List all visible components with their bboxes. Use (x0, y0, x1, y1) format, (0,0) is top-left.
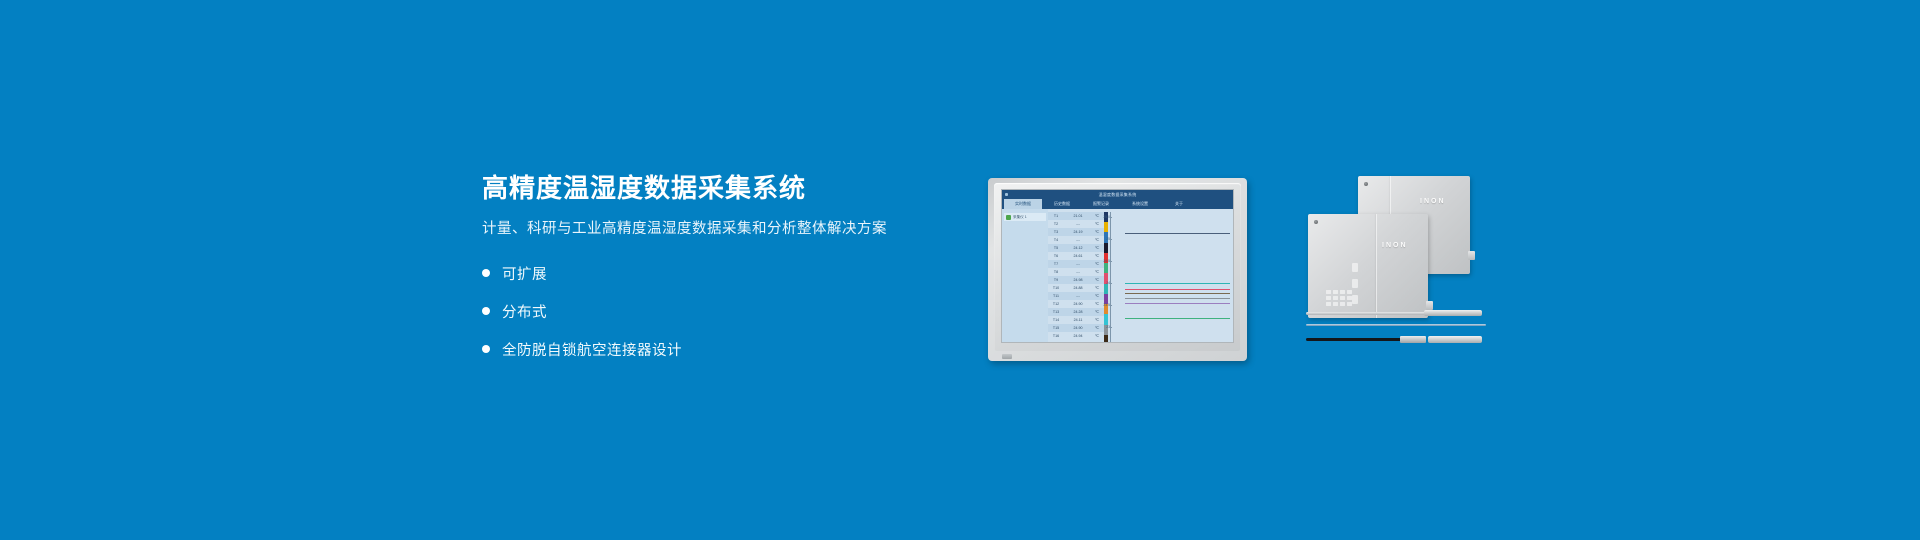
cell-ch: T3 (1048, 230, 1064, 234)
list-item: 可扩展 (482, 258, 1002, 289)
banner-copy: 高精度温湿度数据采集系统 计量、科研与工业高精度温湿度数据采集和分析整体解决方案… (482, 174, 1002, 372)
tab-alarms[interactable]: 报警记录 (1082, 199, 1120, 209)
cell-val: 24.19 (1064, 230, 1092, 234)
cell-val: 24.90 (1064, 302, 1092, 306)
monitor-stand (1002, 354, 1012, 359)
table-row[interactable]: T8---℃ (1048, 268, 1104, 276)
y-axis-tick: 25.0 (1097, 215, 1110, 219)
cell-ch: T8 (1048, 270, 1064, 274)
chart-series-line (1125, 283, 1230, 284)
bullet-icon (482, 269, 490, 277)
table-row[interactable]: T1524.90℃ (1048, 324, 1104, 332)
cell-unit: ℃ (1092, 318, 1102, 322)
channel-color-legend (1104, 212, 1108, 343)
cell-val: --- (1064, 238, 1092, 242)
cell-ch: T13 (1048, 310, 1064, 314)
cell-ch: T9 (1048, 278, 1064, 282)
cell-unit: ℃ (1092, 270, 1102, 274)
list-item: 全防脱自锁航空连接器设计 (482, 334, 1002, 365)
chart-series-line (1125, 298, 1230, 299)
table-row[interactable]: T11---℃ (1048, 292, 1104, 300)
cell-unit: ℃ (1092, 230, 1102, 234)
cell-ch: T16 (1048, 334, 1064, 338)
page-subtitle: 计量、科研与工业高精度温湿度数据采集和分析整体解决方案 (482, 217, 1002, 238)
table-row[interactable]: T1324.28℃ (1048, 308, 1104, 316)
module-latch (1468, 251, 1475, 260)
cell-val: 24.90 (1064, 326, 1092, 330)
probe-cable (1306, 338, 1404, 341)
screw-icon (1314, 220, 1318, 224)
cell-val: --- (1064, 262, 1092, 266)
cell-unit: ℃ (1092, 254, 1102, 258)
app-title: 温湿度数据采集系统 (1002, 192, 1233, 198)
monitor-bezel: 温湿度数据采集系统 实时数据 历史数据 报警记录 系统设置 关于 采集仪 1 (994, 183, 1241, 351)
y-axis-tick: 23.5 (1097, 303, 1110, 307)
brand-label: INON (1420, 198, 1446, 205)
screw-icon (1364, 182, 1368, 186)
module-port (1352, 279, 1358, 288)
table-row[interactable]: T1624.94℃ (1048, 332, 1104, 340)
cell-ch: T6 (1048, 254, 1064, 258)
list-item: 分布式 (482, 296, 1002, 327)
table-row[interactable]: T324.19℃ (1048, 228, 1104, 236)
module-seam (1376, 214, 1377, 318)
chart-series-line (1125, 233, 1230, 234)
cell-unit: ℃ (1092, 310, 1102, 314)
probe-cable-connector (1306, 336, 1486, 343)
product-banner: 高精度温湿度数据采集系统 计量、科研与工业高精度温湿度数据采集和分析整体解决方案… (0, 0, 1920, 540)
module-latch (1426, 301, 1433, 310)
app-titlebar: 温湿度数据采集系统 (1002, 190, 1233, 199)
cell-ch: T1 (1048, 214, 1064, 218)
chart-series-line (1125, 303, 1230, 304)
device-online-icon (1006, 215, 1011, 220)
chart-series-line (1125, 318, 1230, 319)
cell-ch: T10 (1048, 286, 1064, 290)
chart-series-line (1125, 289, 1230, 290)
cell-val: 24.28 (1064, 310, 1092, 314)
cell-val: 24.88 (1064, 286, 1092, 290)
bullet-icon (482, 307, 490, 315)
probe-tip (1428, 336, 1482, 343)
y-axis-tick: 24.5 (1097, 259, 1110, 263)
table-row[interactable]: T1024.88℃ (1048, 284, 1104, 292)
cell-unit: ℃ (1092, 222, 1102, 226)
table-row[interactable]: T1424.11℃ (1048, 316, 1104, 324)
feature-label: 可扩展 (502, 263, 547, 284)
cell-ch: T5 (1048, 246, 1064, 250)
module-port (1352, 263, 1358, 272)
bullet-icon (482, 345, 490, 353)
legend-color-swatch (1104, 284, 1108, 294)
sidebar-item-label: 采集仪 1 (1013, 215, 1027, 220)
cell-val: 21.01 (1064, 214, 1092, 218)
y-axis-tick: 23 (1097, 325, 1110, 329)
trend-chart[interactable]: 25.02524.52423.52309:0009:3010:0010:3011… (1110, 212, 1230, 343)
app-body: 采集仪 1 T121.01℃T2---℃T324.19℃T4---℃T524.1… (1002, 209, 1233, 343)
probe-tip (1424, 310, 1482, 316)
device-sidebar: 采集仪 1 (1002, 209, 1048, 343)
tab-settings[interactable]: 系统设置 (1121, 199, 1159, 209)
temperature-humidity-probes (1306, 310, 1486, 366)
probe-shaft (1306, 312, 1428, 315)
feature-label: 分布式 (502, 301, 547, 322)
table-row[interactable]: T624.61℃ (1048, 252, 1104, 260)
table-row[interactable]: T1224.90℃ (1048, 300, 1104, 308)
table-row[interactable]: T121.01℃ (1048, 212, 1104, 220)
legend-color-swatch (1104, 222, 1108, 232)
cell-ch: T14 (1048, 318, 1064, 322)
sidebar-item-device-1[interactable]: 采集仪 1 (1004, 213, 1046, 221)
page-title: 高精度温湿度数据采集系统 (482, 174, 1002, 203)
tab-realtime[interactable]: 实时数据 (1004, 199, 1042, 209)
cell-val: --- (1064, 270, 1092, 274)
cell-ch: T15 (1048, 326, 1064, 330)
feature-label: 全防脱自锁航空连接器设计 (502, 339, 682, 360)
brand-label: INON (1382, 242, 1408, 249)
cell-ch: T4 (1048, 238, 1064, 242)
cell-val: 24.11 (1064, 318, 1092, 322)
channel-table[interactable]: T121.01℃T2---℃T324.19℃T4---℃T524.12℃T624… (1048, 209, 1104, 343)
aviation-connector (1400, 336, 1426, 343)
cell-unit: ℃ (1092, 246, 1102, 250)
cell-val: 24.61 (1064, 254, 1092, 258)
cell-val: 24.94 (1064, 334, 1092, 338)
cell-unit: ℃ (1092, 294, 1102, 298)
cell-ch: T7 (1048, 262, 1064, 266)
module-port (1352, 295, 1358, 304)
cell-ch: T2 (1048, 222, 1064, 226)
tab-about[interactable]: 关于 (1160, 199, 1198, 209)
cell-val: --- (1064, 294, 1092, 298)
table-row[interactable]: T2---℃ (1048, 220, 1104, 228)
legend-color-swatch (1104, 263, 1108, 273)
table-row[interactable]: T524.12℃ (1048, 244, 1104, 252)
table-row[interactable]: T7---℃ (1048, 260, 1104, 268)
monitor-screen: 温湿度数据采集系统 实时数据 历史数据 报警记录 系统设置 关于 采集仪 1 (1001, 189, 1234, 343)
cell-ch: T12 (1048, 302, 1064, 306)
legend-color-swatch (1104, 335, 1108, 343)
cell-val: 24.12 (1064, 246, 1092, 250)
tab-history[interactable]: 历史数据 (1043, 199, 1081, 209)
legend-color-swatch (1104, 314, 1108, 324)
probe-shaft (1306, 324, 1486, 326)
module-front: INON (1308, 214, 1428, 318)
legend-color-swatch (1104, 243, 1108, 253)
feature-list: 可扩展 分布式 全防脱自锁航空连接器设计 (482, 258, 1002, 365)
cell-ch: T11 (1048, 294, 1064, 298)
table-row[interactable]: T4---℃ (1048, 236, 1104, 244)
chart-series-line (1125, 293, 1230, 294)
y-axis-tick: 24 (1097, 281, 1110, 285)
probe-metal-rod (1306, 310, 1486, 316)
panel-pc-monitor: 温湿度数据采集系统 实时数据 历史数据 报警记录 系统设置 关于 采集仪 1 (988, 178, 1247, 361)
cell-unit: ℃ (1092, 334, 1102, 338)
tab-bar: 实时数据 历史数据 报警记录 系统设置 关于 (1002, 199, 1233, 209)
probe-thin-rod (1306, 324, 1486, 327)
cell-val: --- (1064, 222, 1092, 226)
table-row[interactable]: T924.98℃ (1048, 276, 1104, 284)
cell-unit: ℃ (1092, 286, 1102, 290)
y-axis-tick: 25 (1097, 237, 1110, 241)
cell-val: 24.98 (1064, 278, 1092, 282)
connector-array (1326, 290, 1352, 306)
